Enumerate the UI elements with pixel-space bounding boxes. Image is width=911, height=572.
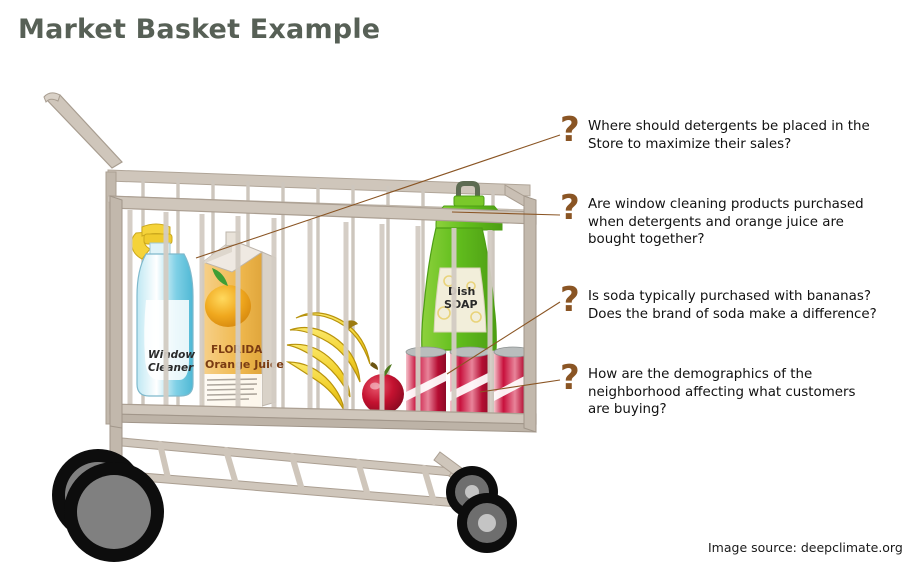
- product-soda-cans: [406, 347, 532, 414]
- callout-question-4: ? How are the demographics of the neighb…: [560, 366, 855, 419]
- cart-lower-rack: [110, 426, 500, 508]
- cart-wheel-front: [64, 462, 164, 562]
- callout-question-2: ? Are window cleaning products purchased…: [560, 196, 864, 249]
- question-mark-icon: ?: [560, 286, 588, 314]
- product-window-cleaner: Window Cleaner: [132, 224, 196, 396]
- callout-question-3: ? Is soda typically purchased with banan…: [560, 288, 877, 323]
- dish-soap-label-line2: SOAP: [444, 298, 478, 311]
- cart-wheel-rear: [457, 493, 517, 553]
- illustration-canvas: Market Basket Example: [0, 0, 911, 572]
- question-text-4: How are the demographics of the neighbor…: [588, 366, 855, 419]
- shopping-cart-illustration: Window Cleaner FLORIDA Orange Juice: [0, 0, 911, 572]
- window-cleaner-label-line1: Window: [148, 349, 195, 361]
- question-mark-icon: ?: [560, 364, 588, 392]
- callout-question-1: ? Where should detergents be placed in t…: [560, 118, 870, 153]
- question-text-2: Are window cleaning products purchased w…: [588, 196, 864, 249]
- question-mark-icon: ?: [560, 194, 588, 222]
- question-mark-icon: ?: [560, 116, 588, 144]
- window-cleaner-label-line2: Cleaner: [148, 362, 194, 374]
- question-text-3: Is soda typically purchased with bananas…: [588, 288, 877, 323]
- leader-line-1: [196, 135, 560, 258]
- question-text-1: Where should detergents be placed in the…: [588, 118, 870, 153]
- image-source-credit: Image source: deepclimate.org: [708, 540, 903, 555]
